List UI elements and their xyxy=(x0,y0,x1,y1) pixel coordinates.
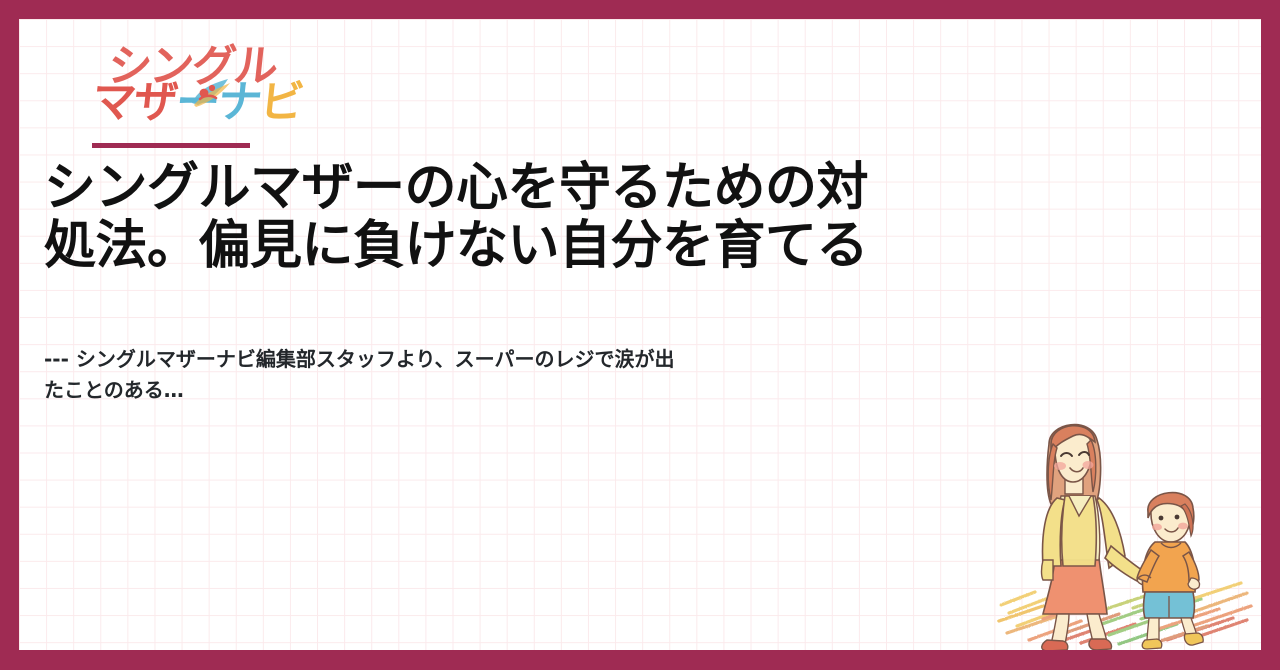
logo-part-bi: ビ xyxy=(257,77,304,128)
logo-line-bottom: マザーナビ xyxy=(90,81,305,125)
ground-hatching xyxy=(999,583,1251,646)
article-subcopy: --- シングルマザーナビ編集部スタッフより、スーパーのレジで涙が出たことのある… xyxy=(44,344,684,406)
article-headline: シングルマザーの心を守るための対処法。偏見に負けない自分を育てる xyxy=(44,159,874,275)
article-card-frame: シングル マザーナビ シングルマザーの心を守るための対処法。偏見に負けない自分を… xyxy=(0,0,1280,670)
logo-part-dash: ー xyxy=(173,77,220,128)
logo-mark: シングル マザーナビ xyxy=(92,39,292,139)
logo-part-maza: マザ xyxy=(89,77,178,128)
logo-underline-rule xyxy=(92,143,250,148)
mother-figure xyxy=(1042,425,1153,650)
mother-and-child-illustration xyxy=(995,400,1255,650)
site-logo[interactable]: シングル マザーナビ xyxy=(92,39,302,139)
logo-part-na: ナ xyxy=(215,77,262,128)
article-canvas: シングル マザーナビ シングルマザーの心を守るための対処法。偏見に負けない自分を… xyxy=(19,19,1261,650)
